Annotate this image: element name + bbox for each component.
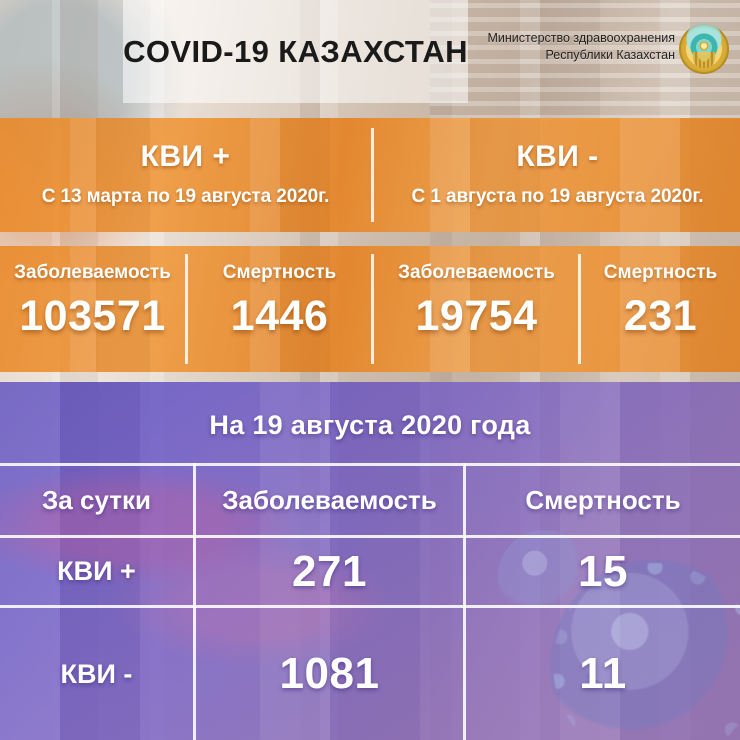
daily-col-header-cases: Заболеваемость	[196, 466, 463, 535]
stat-positive-deaths-value: 1446	[188, 292, 371, 341]
daily-col-header-deaths: Смертность	[466, 466, 740, 535]
stat-positive-cases: Заболеваемость 103571	[0, 246, 185, 372]
daily-col-header-period: За сутки	[0, 466, 193, 535]
kazakhstan-emblem-icon	[679, 24, 729, 74]
kvi-positive-header: КВИ + С 13 марта по 19 августа 2020г.	[0, 118, 371, 232]
daily-cases-negative: 1081	[196, 608, 463, 740]
kvi-positive-label: КВИ +	[0, 140, 371, 174]
stat-negative-cases-label: Заболеваемость	[375, 262, 578, 284]
cumulative-section: КВИ + С 13 марта по 19 августа 2020г. КВ…	[0, 118, 740, 372]
daily-cases-positive: 271	[196, 538, 463, 605]
cumulative-header-row: КВИ + С 13 марта по 19 августа 2020г. КВ…	[0, 118, 740, 232]
header-center-divider	[371, 128, 374, 222]
infographic-poster: COVID-19 КАЗАХСТАН Министерство здравоох…	[0, 0, 740, 740]
stat-negative-cases-value: 19754	[375, 292, 578, 341]
stat-negative-deaths-label: Смертность	[581, 262, 740, 284]
ministry-line-1: Министерство здравоохранения	[470, 30, 675, 47]
stat-divider-center	[371, 254, 374, 364]
daily-deaths-negative: 11	[466, 608, 740, 740]
daily-section: На 19 августа 2020 года За сутки Заболев…	[0, 382, 740, 740]
kvi-positive-period: С 13 марта по 19 августа 2020г.	[0, 186, 371, 208]
daily-row-label-positive: КВИ +	[0, 538, 193, 605]
cumulative-stats-row: Заболеваемость 103571 Смертность 1446 За…	[0, 246, 740, 372]
daily-title: На 19 августа 2020 года	[0, 410, 740, 441]
kvi-negative-label: КВИ -	[375, 140, 740, 174]
stat-negative-cases: Заболеваемость 19754	[375, 246, 578, 372]
kvi-negative-header: КВИ - С 1 августа по 19 августа 2020г.	[375, 118, 740, 232]
stat-negative-deaths-value: 231	[581, 292, 740, 341]
daily-deaths-positive: 15	[466, 538, 740, 605]
stat-positive-cases-label: Заболеваемость	[0, 262, 185, 284]
stat-positive-deaths-label: Смертность	[188, 262, 371, 284]
kvi-negative-period: С 1 августа по 19 августа 2020г.	[375, 186, 740, 208]
stat-positive-deaths: Смертность 1446	[188, 246, 371, 372]
stat-negative-deaths: Смертность 231	[581, 246, 740, 372]
ministry-block: Министерство здравоохранения Республики …	[470, 30, 675, 68]
page-title: COVID-19 КАЗАХСТАН	[123, 30, 468, 74]
daily-row-label-negative: КВИ -	[0, 608, 193, 740]
ministry-line-2: Республики Казахстан	[470, 47, 675, 64]
stat-positive-cases-value: 103571	[0, 292, 185, 341]
